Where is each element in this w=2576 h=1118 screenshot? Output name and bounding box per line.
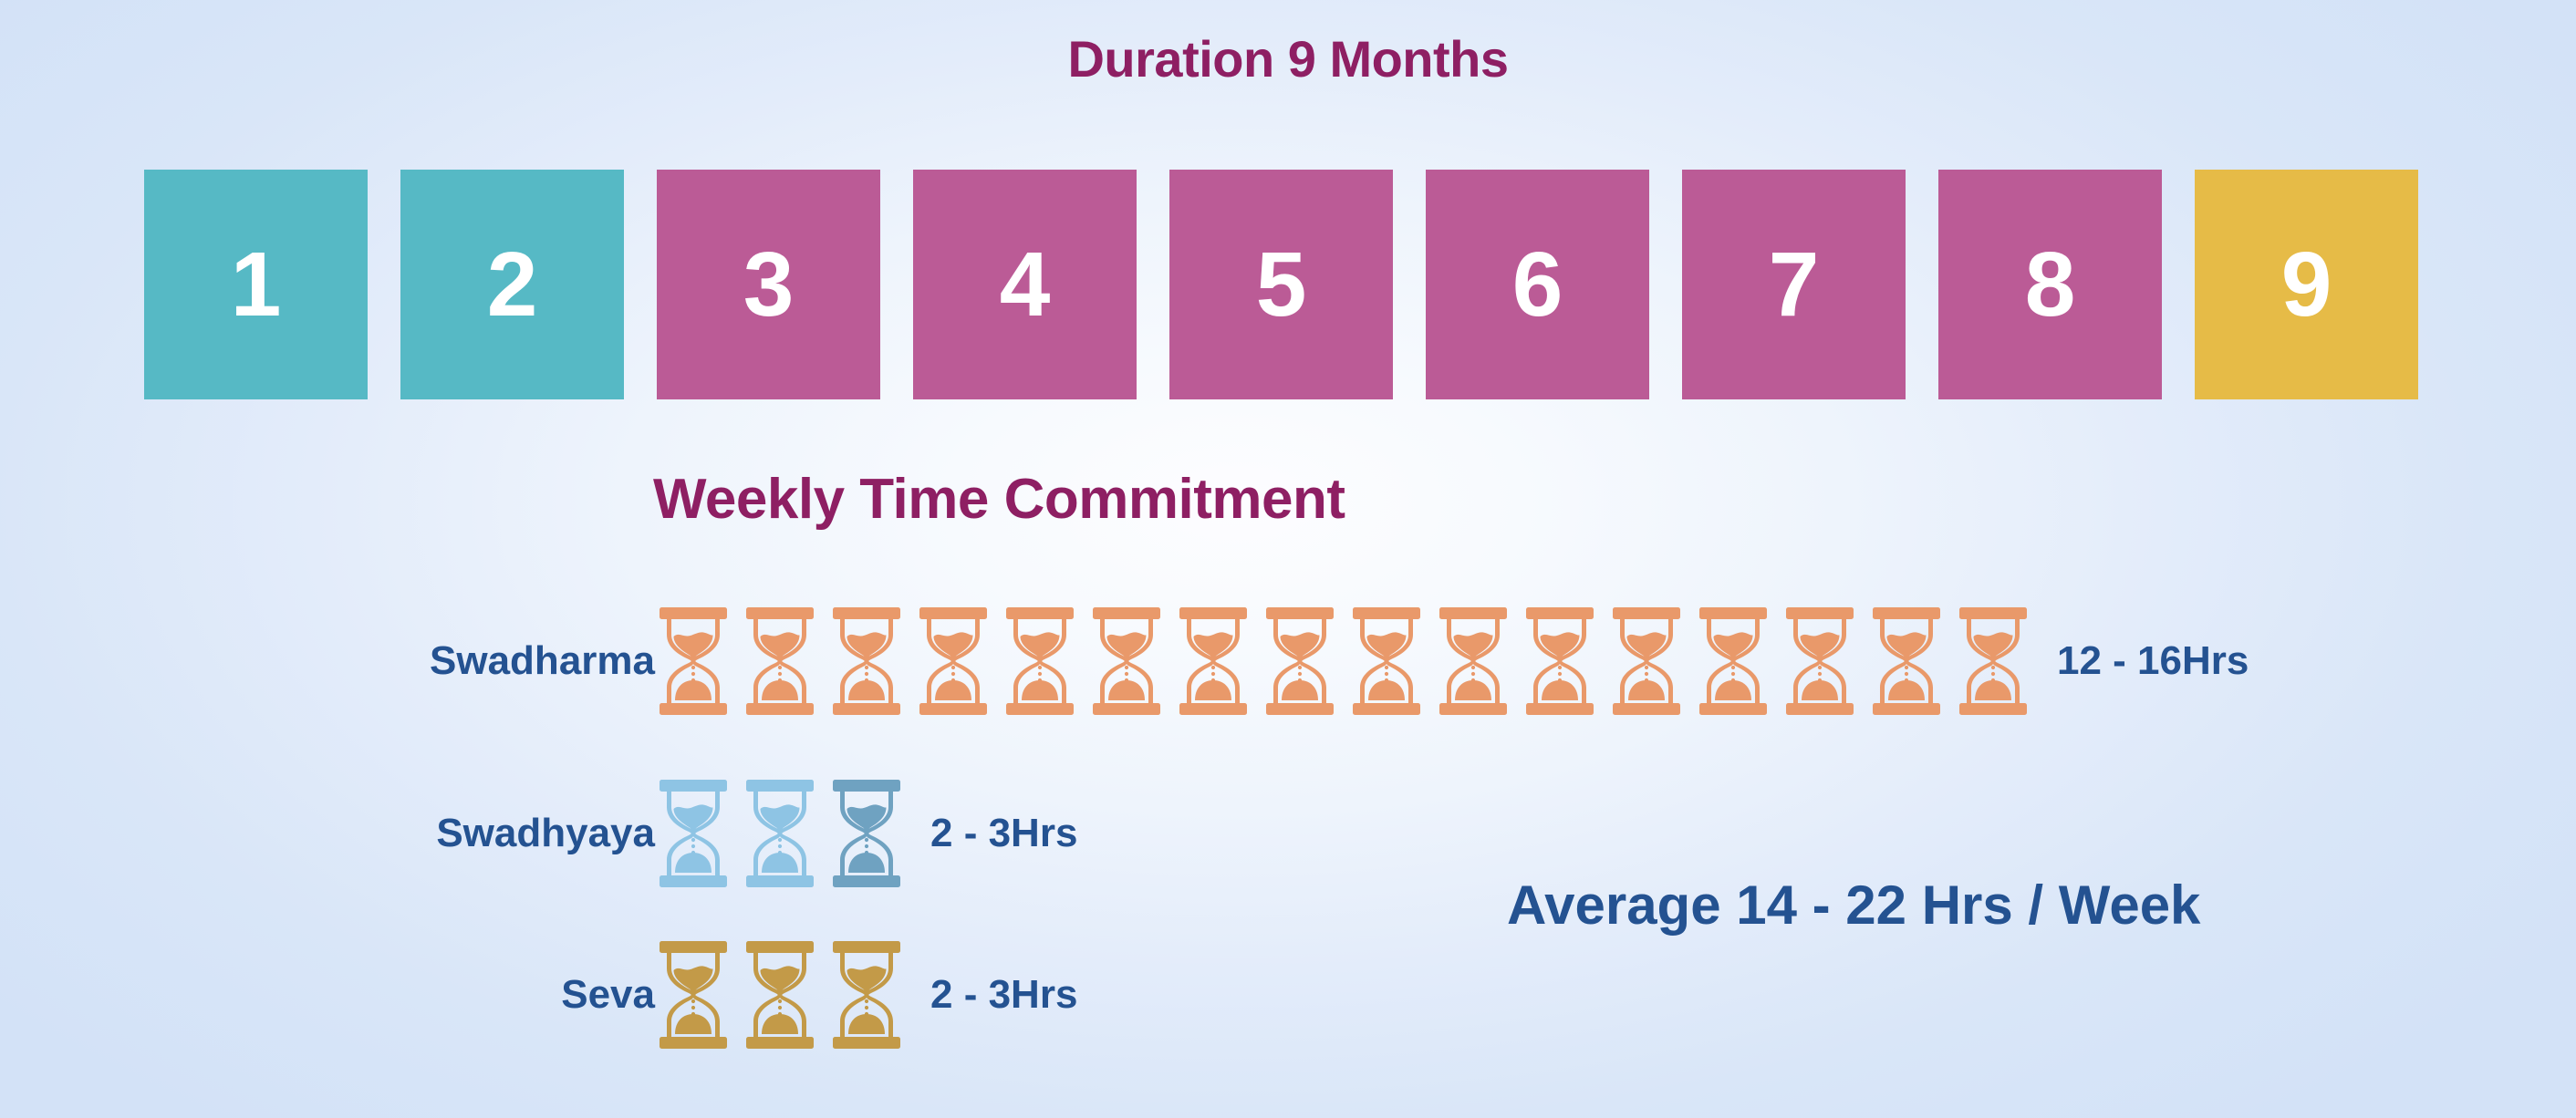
- hourglass-icon: [657, 941, 730, 1049]
- weekly-time-commitment-heading: Weekly Time Commitment: [653, 467, 1345, 532]
- hourglass-icon: [1090, 607, 1163, 715]
- hourglass-icon: [657, 607, 730, 715]
- month-number: 3: [743, 239, 795, 330]
- hourglass-icon: [1263, 607, 1336, 715]
- hourglass-icon: [1350, 607, 1423, 715]
- commitment-label: Swadhyaya: [0, 811, 655, 856]
- commitment-row-swadhyaya: Swadhyaya 2 - 3Hrs: [0, 780, 1077, 887]
- hourglass-icon: [743, 607, 816, 715]
- commitment-label: Swadharma: [0, 638, 655, 684]
- hourglass-icon: [1870, 607, 1943, 715]
- month-box-4[interactable]: 4: [913, 170, 1137, 399]
- month-box-8[interactable]: 8: [1938, 170, 2162, 399]
- month-box-3[interactable]: 3: [657, 170, 880, 399]
- month-number: 7: [1769, 239, 1820, 330]
- commitment-hours: 12 - 16Hrs: [2057, 638, 2249, 684]
- hourglass-icon: [743, 780, 816, 887]
- hourglass-icon: [1610, 607, 1683, 715]
- hourglass-icon: [1957, 607, 2030, 715]
- month-number: 5: [1256, 239, 1307, 330]
- month-box-7[interactable]: 7: [1682, 170, 1906, 399]
- month-box-9[interactable]: 9: [2195, 170, 2418, 399]
- commitment-hours: 2 - 3Hrs: [930, 972, 1077, 1018]
- hourglass-icon: [917, 607, 990, 715]
- hourglass-icon: [657, 780, 730, 887]
- month-box-1[interactable]: 1: [144, 170, 368, 399]
- hourglass-icon: [1177, 607, 1250, 715]
- hourglass-icon: [1697, 607, 1770, 715]
- average-hours-summary: Average 14 - 22 Hrs / Week: [1507, 874, 2200, 937]
- hourglass-icon: [830, 941, 903, 1049]
- month-number: 9: [2281, 239, 2332, 330]
- hourglass-icon: [1523, 607, 1596, 715]
- month-box-2[interactable]: 2: [400, 170, 624, 399]
- page-title: Duration 9 Months: [0, 29, 2576, 88]
- month-timeline: 123456789: [144, 170, 2418, 399]
- month-box-6[interactable]: 6: [1426, 170, 1649, 399]
- infographic-canvas: Duration 9 Months 123456789 Weekly Time …: [0, 0, 2576, 1118]
- hourglass-strip-swadhyaya: [657, 780, 903, 887]
- hourglass-strip-seva: [657, 941, 903, 1049]
- month-number: 2: [487, 239, 538, 330]
- hourglass-icon: [1003, 607, 1076, 715]
- month-number: 4: [1000, 239, 1051, 330]
- month-number: 8: [2025, 239, 2076, 330]
- commitment-hours: 2 - 3Hrs: [930, 811, 1077, 856]
- commitment-row-seva: Seva 2 - 3Hrs: [0, 941, 1077, 1049]
- month-number: 1: [231, 239, 282, 330]
- commitment-row-swadharma: Swadharma 12 - 16Hrs: [0, 607, 2249, 715]
- month-box-5[interactable]: 5: [1169, 170, 1393, 399]
- hourglass-icon: [1437, 607, 1510, 715]
- hourglass-icon: [830, 607, 903, 715]
- hourglass-icon: [743, 941, 816, 1049]
- hourglass-icon: [1783, 607, 1856, 715]
- commitment-label: Seva: [0, 972, 655, 1018]
- month-number: 6: [1512, 239, 1563, 330]
- hourglass-strip-swadharma: [657, 607, 2030, 715]
- hourglass-icon: [830, 780, 903, 887]
